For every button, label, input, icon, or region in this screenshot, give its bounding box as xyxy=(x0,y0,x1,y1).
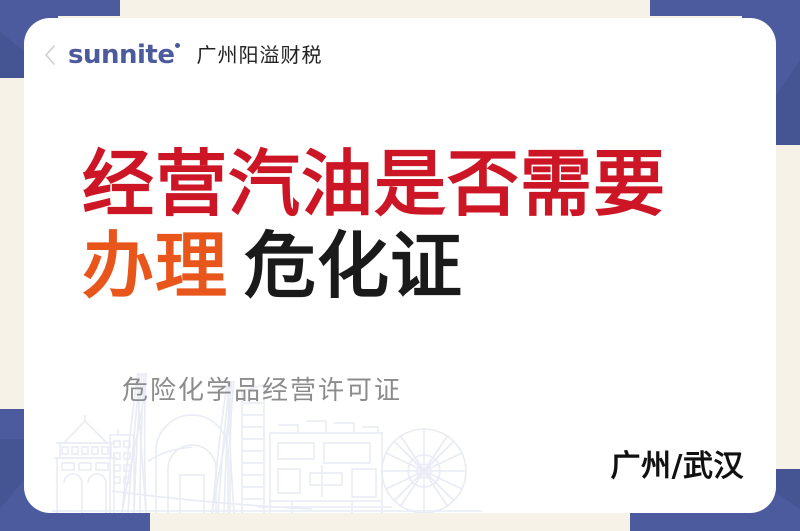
content-card: sunnite 广州阳溢财税 经营汽油是否需要 办理危化证 危险化学品经营许可证… xyxy=(24,18,776,513)
headline-block: 经营汽油是否需要 办理危化证 xyxy=(82,146,742,305)
headline-line-2: 办理危化证 xyxy=(82,228,742,304)
corner-bracket-top-left-arm xyxy=(0,0,120,16)
headline-keyword-orange: 办理 xyxy=(82,224,228,308)
headline-line-1: 经营汽油是否需要 xyxy=(82,146,742,222)
poster-canvas: sunnite 广州阳溢财税 经营汽油是否需要 办理危化证 危险化学品经营许可证… xyxy=(0,0,800,531)
logo-dot-icon xyxy=(175,43,180,48)
sunnite-wordmark: sunnite xyxy=(68,42,174,68)
corner-bracket-top-right-arm xyxy=(650,0,800,16)
back-icon[interactable] xyxy=(42,42,58,68)
sunnite-logo[interactable]: sunnite xyxy=(68,42,180,68)
headline-keyword-black: 危化证 xyxy=(244,224,463,308)
header-bar: sunnite 广州阳溢财税 xyxy=(42,38,322,72)
subtitle: 危险化学品经营许可证 xyxy=(122,370,402,407)
city-badge: 广州/武汉 xyxy=(611,441,744,485)
brand-name: 广州阳溢财税 xyxy=(196,45,322,65)
